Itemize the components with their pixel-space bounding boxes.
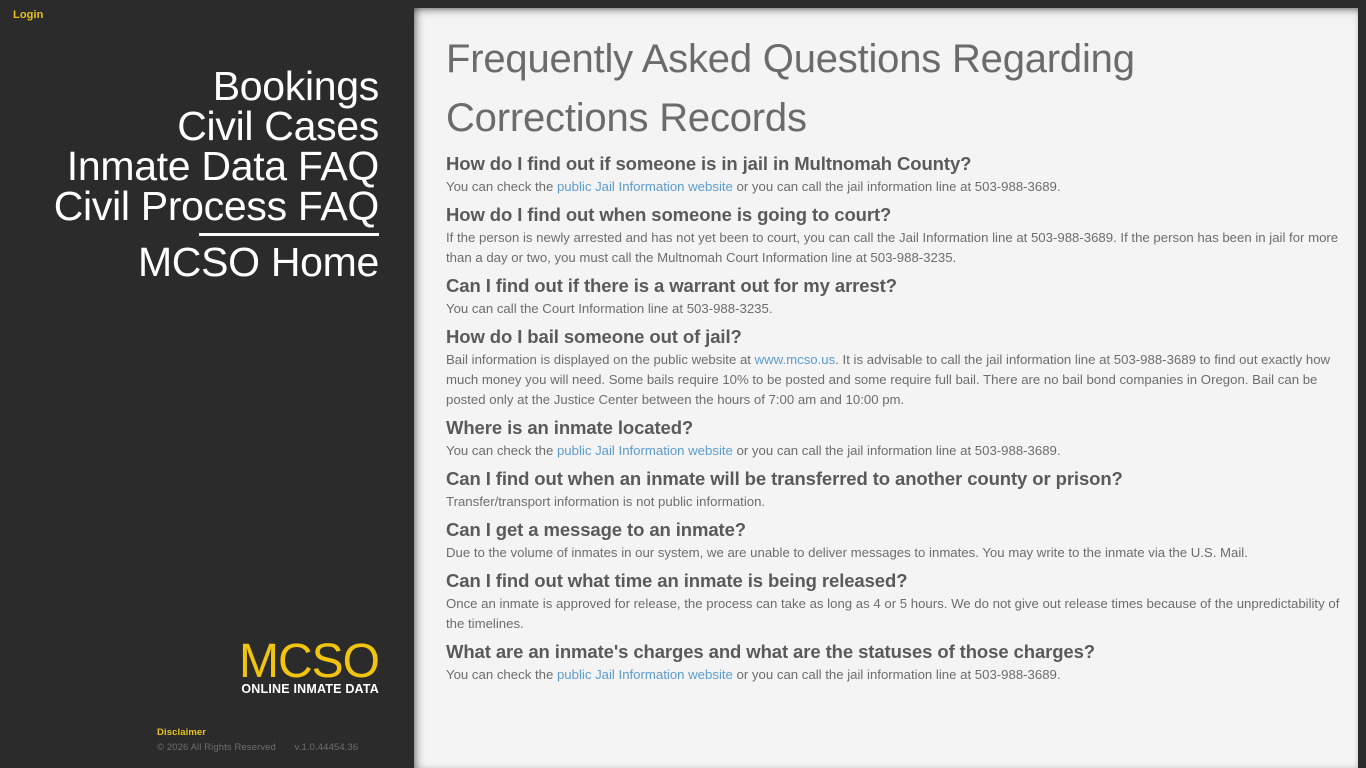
faq-answer-inmate-transfer: Transfer/transport information is not pu… — [446, 492, 1340, 512]
faq-list: How do I find out if someone is in jail … — [446, 150, 1340, 685]
faq-answer-link[interactable]: public Jail Information website — [557, 667, 733, 682]
faq-item: Can I get a message to an inmate?Due to … — [446, 516, 1340, 563]
faq-answer-text: Once an inmate is approved for release, … — [446, 596, 1339, 631]
faq-item: Where is an inmate located?You can check… — [446, 414, 1340, 461]
faq-question-inmate-charges-statuses: What are an inmate's charges and what ar… — [446, 638, 1340, 665]
login-link[interactable]: Login — [13, 9, 43, 21]
faq-answer-message-to-inmate: Due to the volume of inmates in our syst… — [446, 543, 1340, 563]
faq-answer-text: You can call the Court Information line … — [446, 301, 772, 316]
faq-item: Can I find out if there is a warrant out… — [446, 272, 1340, 319]
content-wrapper: Frequently Asked Questions Regarding Cor… — [406, 0, 1366, 768]
footer-legal-row: © 2026 All Rights Reserved v.1.0.44454.3… — [157, 742, 358, 753]
faq-question-release-time: Can I find out what time an inmate is be… — [446, 567, 1340, 594]
faq-item: How do I bail someone out of jail?Bail i… — [446, 323, 1340, 410]
faq-question-warrant-out-for-arrest: Can I find out if there is a warrant out… — [446, 272, 1340, 299]
sidebar-footer: Disclaimer © 2026 All Rights Reserved v.… — [157, 727, 358, 753]
faq-question-inmate-transfer: Can I find out when an inmate will be tr… — [446, 465, 1340, 492]
primary-nav: BookingsCivil CasesInmate Data FAQCivil … — [0, 66, 379, 282]
faq-answer-release-time: Once an inmate is approved for release, … — [446, 594, 1340, 634]
faq-answer-inmate-charges-statuses: You can check the public Jail Informatio… — [446, 665, 1340, 685]
faq-answer-text: You can check the — [446, 443, 557, 458]
mcso-logo-subtitle: ONLINE INMATE DATA — [79, 683, 379, 696]
faq-answer-link[interactable]: www.mcso.us — [755, 352, 836, 367]
faq-question-when-going-to-court: How do I find out when someone is going … — [446, 201, 1340, 228]
faq-item: How do I find out if someone is in jail … — [446, 150, 1340, 197]
faq-answer-text: If the person is newly arrested and has … — [446, 230, 1338, 265]
copyright-text: © 2026 All Rights Reserved — [157, 742, 276, 753]
faq-question-message-to-inmate: Can I get a message to an inmate? — [446, 516, 1340, 543]
faq-question-bail-someone-out: How do I bail someone out of jail? — [446, 323, 1340, 350]
nav-divider — [199, 233, 379, 236]
faq-answer-text: Due to the volume of inmates in our syst… — [446, 545, 1248, 560]
mcso-logo-title: MCSO — [79, 639, 379, 685]
nav-item-bookings[interactable]: Bookings — [0, 66, 379, 106]
content-panel: Frequently Asked Questions Regarding Cor… — [414, 8, 1358, 768]
nav-item-inmate-data-faq[interactable]: Inmate Data FAQ — [0, 146, 379, 186]
sidebar: Login BookingsCivil CasesInmate Data FAQ… — [0, 0, 406, 768]
faq-question-where-is-inmate-located: Where is an inmate located? — [446, 414, 1340, 441]
faq-answer-text: or you can call the jail information lin… — [733, 179, 1061, 194]
disclaimer-link[interactable]: Disclaimer — [157, 727, 358, 738]
faq-answer-text: You can check the — [446, 667, 557, 682]
faq-answer-bail-someone-out: Bail information is displayed on the pub… — [446, 350, 1340, 410]
mcso-logo: MCSO ONLINE INMATE DATA — [79, 639, 379, 696]
faq-item: What are an inmate's charges and what ar… — [446, 638, 1340, 685]
faq-item: Can I find out what time an inmate is be… — [446, 567, 1340, 634]
faq-answer-text: or you can call the jail information lin… — [733, 443, 1061, 458]
version-text: v.1.0.44454.36 — [295, 742, 359, 753]
nav-item-mcso-home[interactable]: MCSO Home — [0, 242, 379, 282]
faq-answer-when-going-to-court: If the person is newly arrested and has … — [446, 228, 1340, 268]
faq-item: Can I find out when an inmate will be tr… — [446, 465, 1340, 512]
faq-answer-link[interactable]: public Jail Information website — [557, 179, 733, 194]
faq-answer-text: You can check the — [446, 179, 557, 194]
faq-answer-find-someone-in-jail: You can check the public Jail Informatio… — [446, 177, 1340, 197]
page-title: Frequently Asked Questions Regarding Cor… — [446, 30, 1340, 148]
faq-answer-where-is-inmate-located: You can check the public Jail Informatio… — [446, 441, 1340, 461]
faq-answer-text: Bail information is displayed on the pub… — [446, 352, 755, 367]
faq-question-find-someone-in-jail: How do I find out if someone is in jail … — [446, 150, 1340, 177]
faq-item: How do I find out when someone is going … — [446, 201, 1340, 268]
faq-answer-warrant-out-for-arrest: You can call the Court Information line … — [446, 299, 1340, 319]
nav-item-civil-cases[interactable]: Civil Cases — [0, 106, 379, 146]
nav-item-civil-process-faq[interactable]: Civil Process FAQ — [0, 186, 379, 226]
faq-answer-text: Transfer/transport information is not pu… — [446, 494, 765, 509]
faq-answer-text: or you can call the jail information lin… — [733, 667, 1061, 682]
faq-answer-link[interactable]: public Jail Information website — [557, 443, 733, 458]
